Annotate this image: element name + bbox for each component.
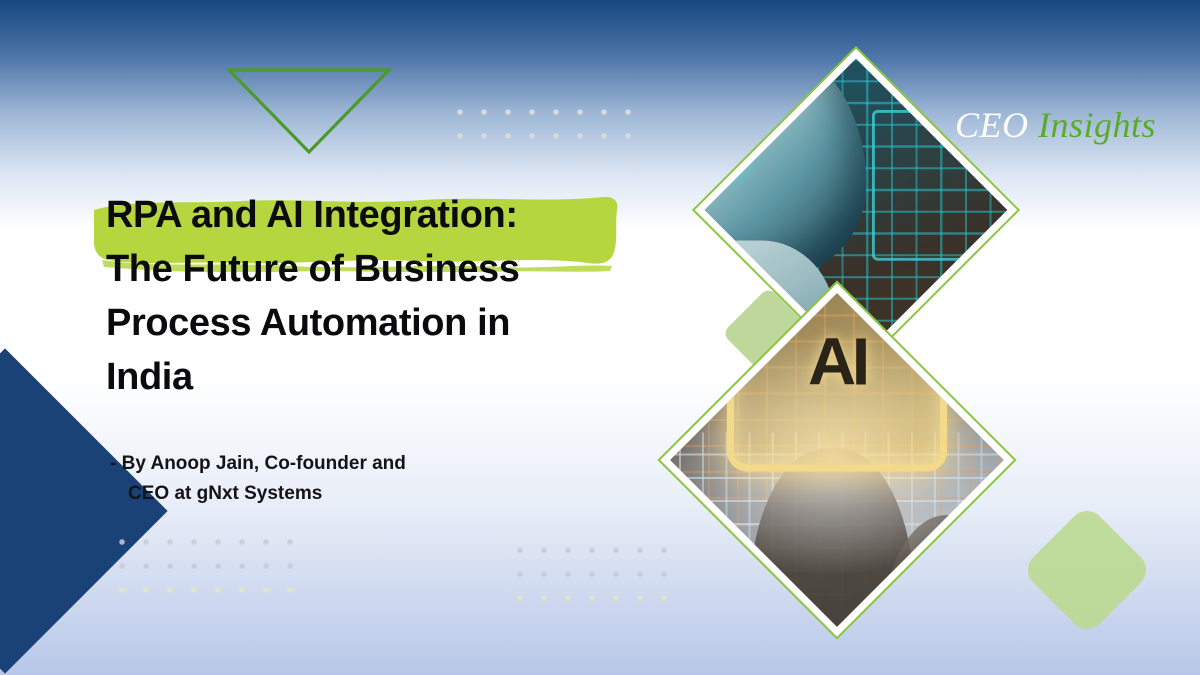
- green-triangle-outline-icon: [225, 66, 393, 158]
- brand-logo-insights: Insights: [1038, 105, 1156, 145]
- byline-line-1: - By Anoop Jain, Co-founder and: [110, 453, 406, 474]
- dot-grid-top-center: [448, 100, 644, 176]
- headline-line-2: The Future of Business: [106, 242, 666, 296]
- dot-grid-bottom-center-accent: [508, 586, 680, 612]
- brand-logo: CEO Insights: [955, 104, 1156, 146]
- byline-block: - By Anoop Jain, Co-founder and CEO at g…: [110, 449, 530, 509]
- headline-block: RPA and AI Integration: The Future of Bu…: [106, 188, 666, 404]
- ai-badge-label: AI: [808, 328, 866, 395]
- dot-grid-bottom-left: [110, 530, 306, 582]
- headline-text: RPA and AI Integration: The Future of Bu…: [106, 188, 666, 404]
- headline-line-3: Process Automation in: [106, 296, 666, 350]
- byline-line-2: CEO at gNxt Systems: [110, 479, 530, 509]
- headline-line-1: RPA and AI Integration:: [106, 188, 666, 242]
- poster-canvas: AI CEO Insights RPA and AI Integration: …: [0, 0, 1200, 675]
- dot-grid-bottom-left-accent: [110, 578, 306, 604]
- headline-line-4: India: [106, 350, 666, 404]
- brand-logo-ceo: CEO: [955, 105, 1029, 145]
- dot-grid-bottom-center: [508, 538, 680, 590]
